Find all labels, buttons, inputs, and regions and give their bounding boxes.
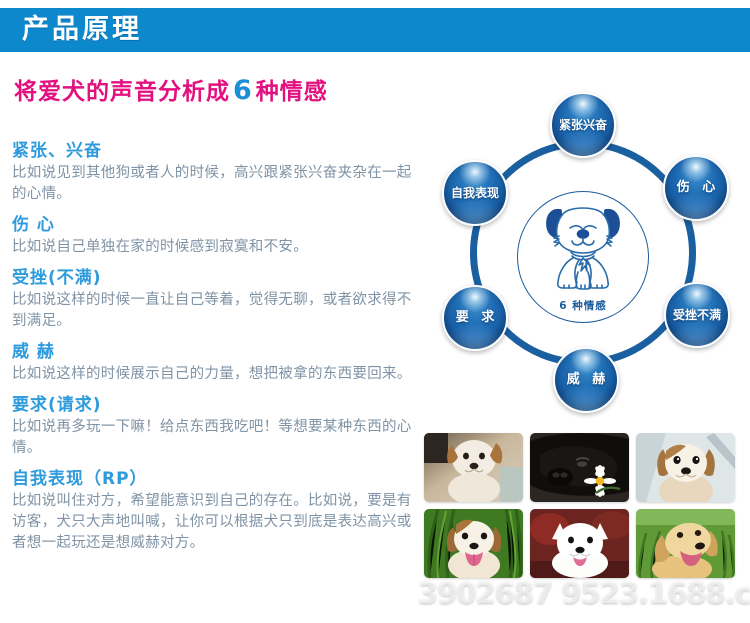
center-caption: 6 种情感 [518,298,648,313]
section-body: 比如说这样的时候展示自己的力量，想把被拿的东西要回来。 [12,364,412,385]
emotion-node-sad[interactable]: 伤 心 [663,155,729,221]
emotion-section-request: 要求(请求) 比如说再多玩一下嘛！给点东西我吃吧！等想要某种东西的心情。 [12,394,412,459]
emotion-node-request[interactable]: 要 求 [442,285,508,351]
emotion-node-excited[interactable]: 紧张兴奋 [550,92,616,158]
subtitle: 将爱犬的声音分析成6种情感 [14,78,328,105]
section-heading: 威 赫 [12,341,412,363]
gallery-photo-3[interactable] [636,433,735,502]
emotion-node-threat[interactable]: 威 赫 [553,347,619,413]
node-label: 受挫不满 [673,308,721,322]
subtitle-after: 种情感 [256,79,328,105]
section-body: 比如说这样的时候一直让自己等着，觉得无聊，或者欲求得不到满足。 [12,290,412,332]
section-heading: 紧张、兴奋 [12,140,412,162]
gallery-photo-4[interactable] [424,509,523,578]
product-principle-page: 产品原理 将爱犬的声音分析成6种情感 紧张、兴奋 比如说见到其他狗或者人的时候，… [0,0,750,623]
node-label: 紧张兴奋 [559,118,607,132]
emotion-section-threat: 威 赫 比如说这样的时候展示自己的力量，想把被拿的东西要回来。 [12,341,412,385]
section-heading: 伤 心 [12,214,412,236]
section-body: 比如说自己单独在家的时候感到寂寞和不安。 [12,237,412,258]
emotion-node-frustrated[interactable]: 受挫不满 [664,282,730,348]
emotion-section-self-expression: 自我表现（RP） 比如说叫住对方，希望能意识到自己的存在。比如说，要是有访客，犬… [12,468,412,554]
emotion-description-list: 紧张、兴奋 比如说见到其他狗或者人的时候，高兴跟紧张兴奋夹杂在一起的心情。 伤 … [12,140,412,563]
section-heading: 要求(请求) [12,394,412,416]
gallery-photo-1[interactable] [424,433,523,502]
subtitle-before: 将爱犬的声音分析成 [14,79,230,105]
section-body: 比如说叫住对方，希望能意识到自己的存在。比如说，要是有访客，犬只大声地叫喊，让你… [12,491,412,554]
six-emotions-diagram: 6 种情感 紧张兴奋 伤 心 受挫不满 威 赫 要 求 自我表现 [418,88,748,418]
dog-photo-gallery [424,433,744,613]
section-body: 比如说见到其他狗或者人的时候，高兴跟紧张兴奋夹杂在一起的心情。 [12,163,412,205]
emotion-section-excited: 紧张、兴奋 比如说见到其他狗或者人的时候，高兴跟紧张兴奋夹杂在一起的心情。 [12,140,412,205]
subtitle-highlight-number: 6 [230,75,256,106]
dog-illustration-icon [531,196,635,296]
page-title: 产品原理 [22,16,142,44]
diagram-center-circle: 6 种情感 [517,191,649,323]
node-label: 自我表现 [451,186,499,200]
node-label: 威 赫 [563,373,610,387]
node-label: 要 求 [452,311,499,325]
emotion-section-sad: 伤 心 比如说自己单独在家的时候感到寂寞和不安。 [12,214,412,258]
section-heading: 受挫(不满) [12,267,412,289]
node-label: 伤 心 [673,181,720,195]
gallery-photo-5[interactable] [530,509,629,578]
header-banner: 产品原理 [0,8,750,52]
emotion-section-frustrated: 受挫(不满) 比如说这样的时候一直让自己等着，觉得无聊，或者欲求得不到满足。 [12,267,412,332]
section-body: 比如说再多玩一下嘛！给点东西我吃吧！等想要某种东西的心情。 [12,417,412,459]
section-heading: 自我表现（RP） [12,468,412,490]
gallery-photo-2[interactable] [530,433,629,502]
gallery-photo-6[interactable] [636,509,735,578]
emotion-node-self-expression[interactable]: 自我表现 [442,160,508,226]
